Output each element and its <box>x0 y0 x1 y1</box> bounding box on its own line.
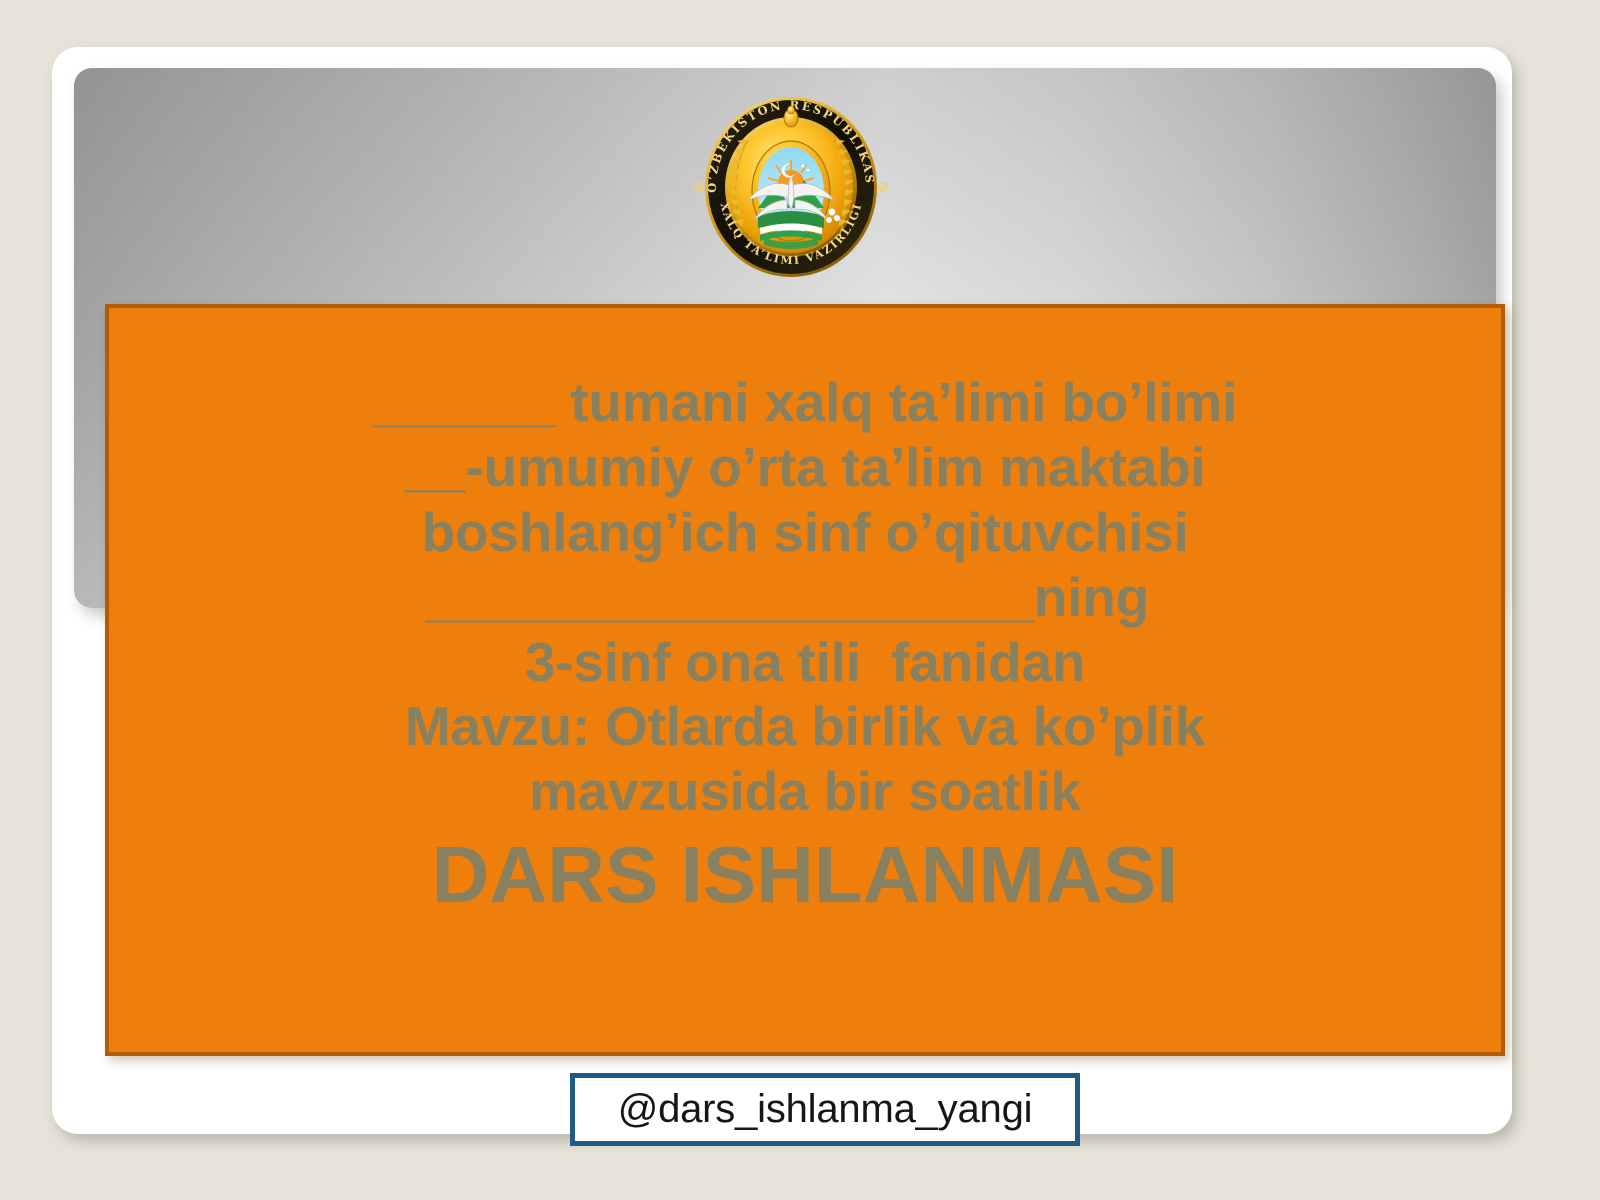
text-line-district: ______ tumani xalq ta’limi bo’limi <box>109 370 1501 435</box>
main-content-box: ______ tumani xalq ta’limi bo’limi __-um… <box>105 304 1505 1056</box>
text-line-teacher-role: boshlang’ich sinf o’qituvchisi <box>109 500 1501 565</box>
text-line-duration: mavzusida bir soatlik <box>109 759 1501 824</box>
channel-handle-box[interactable]: @dars_ishlanma_yangi <box>570 1073 1080 1146</box>
text-line-school: __-umumiy o’rta ta’lim maktabi <box>109 435 1501 500</box>
text-line-name-blank: ____________________ning <box>109 565 1501 630</box>
slide-body-text: ______ tumani xalq ta’limi bo’limi __-um… <box>109 370 1501 923</box>
presentation-slide: O‘ZBEKISTON RESPUBLIKASI XALQ TA’LIMI VA… <box>0 0 1600 1200</box>
channel-handle-label: @dars_ishlanma_yangi <box>618 1087 1033 1132</box>
text-line-subject: 3-sinf ona tili fanidan <box>109 630 1501 695</box>
uzbekistan-ministry-emblem-icon: O‘ZBEKISTON RESPUBLIKASI XALQ TA’LIMI VA… <box>686 88 896 284</box>
page-title: DARS ISHLANMASI <box>109 828 1501 922</box>
text-line-topic: Mavzu: Otlarda birlik va ko’plik <box>109 694 1501 759</box>
